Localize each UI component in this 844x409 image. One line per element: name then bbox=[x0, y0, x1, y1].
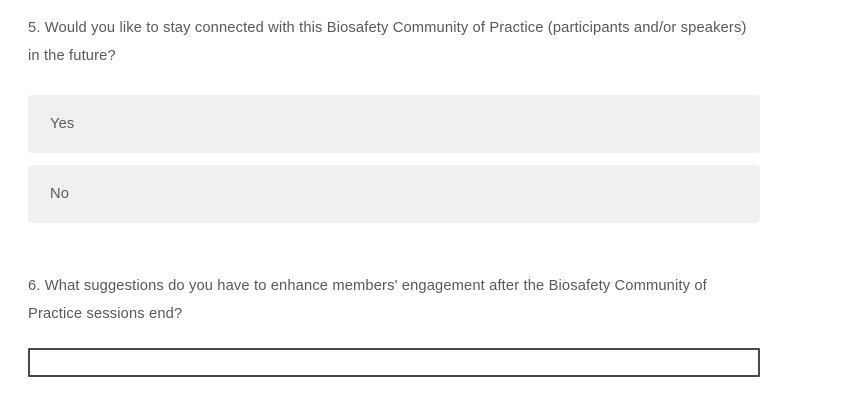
choice-option-yes[interactable]: Yes bbox=[28, 95, 760, 153]
choice-option-no-label: No bbox=[50, 187, 69, 202]
choice-option-no[interactable]: No bbox=[28, 165, 760, 223]
choice-option-yes-label: Yes bbox=[50, 117, 74, 132]
question-6-answer-input[interactable] bbox=[28, 348, 760, 377]
survey-form-page: 5. Would you like to stay connected with… bbox=[0, 0, 844, 409]
question-6-text: 6. What suggestions do you have to enhan… bbox=[28, 272, 762, 328]
question-6-answer-wrap bbox=[28, 348, 760, 377]
question-5-choice-list: Yes No bbox=[28, 95, 760, 223]
question-6-block: 6. What suggestions do you have to enhan… bbox=[28, 272, 762, 328]
question-5-block: 5. Would you like to stay connected with… bbox=[28, 14, 762, 70]
question-5-text: 5. Would you like to stay connected with… bbox=[28, 14, 762, 70]
